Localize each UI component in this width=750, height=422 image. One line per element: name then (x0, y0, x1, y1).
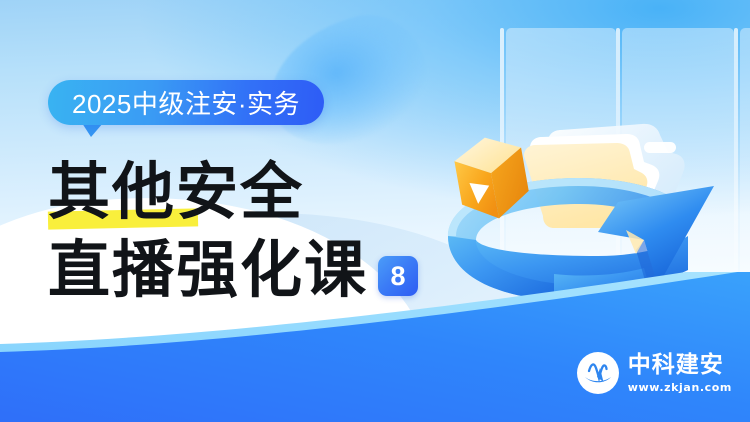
episode-number-badge: 8 (378, 256, 418, 296)
brand-logo[interactable]: 中科建安 www.zkjan.com (577, 352, 732, 394)
title-line-2-row: 直播强化课 8 (48, 230, 418, 302)
course-poster: 2025中级注安·实务 其他安全 直播强化课 8 中科建安 www.zkjan.… (0, 0, 750, 422)
background-panel-edge (734, 28, 738, 358)
title-block: 其他安全 直播强化课 8 (48, 152, 418, 302)
course-category-badge[interactable]: 2025中级注安·实务 (48, 80, 324, 125)
brand-name: 中科建安 (628, 354, 732, 377)
zkjan-logo-icon (577, 352, 619, 394)
hero-illustration (430, 90, 730, 330)
badge-label: 2025中级注安·实务 (72, 84, 300, 121)
background-panel (740, 28, 750, 358)
brand-text: 中科建安 www.zkjan.com (628, 354, 732, 393)
title-line-2: 直播强化课 (48, 238, 368, 302)
title-line-1-row: 其他安全 (48, 152, 418, 224)
brand-url: www.zkjan.com (628, 382, 732, 393)
title-line-1: 其他安全 (48, 160, 304, 224)
badge-tail (82, 123, 103, 137)
